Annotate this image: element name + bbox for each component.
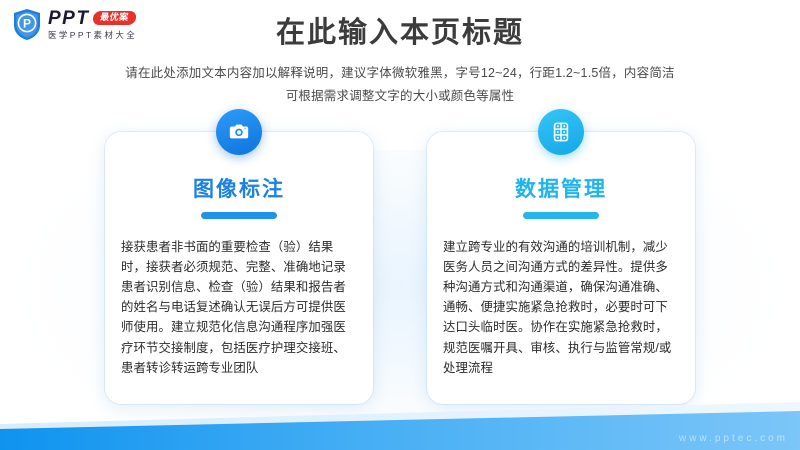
card-body-text: 建立跨专业的有效沟通的培训机制，减少医务人员之间沟通方式的差异性。提供多种沟通方… [443, 237, 679, 378]
page-subtitle-line-2: 可根据需求调整文字的大小或颜色等属性 [70, 85, 730, 108]
page-subtitle: 请在此处添加文本内容加以解释说明，建议字体微软雅黑，字号12~24，行距1.2~… [70, 62, 730, 108]
card-heading: 数据管理 [515, 178, 607, 201]
card-divider [523, 212, 599, 219]
database-icon [538, 109, 584, 155]
watermark: www.pptec.com [679, 434, 788, 444]
card-image-annotation[interactable]: 图像标注 接获患者非书面的重要检查（验）结果时，接获者必须规范、完整、准确地记录… [105, 132, 373, 404]
page-title: 在此输入本页标题 [0, 16, 800, 51]
card-divider [201, 212, 277, 219]
slide-root: P PPT 最优案 医学PPT素材大全 在此输入本页标题 请在此处添加文本内容加… [0, 0, 800, 450]
card-row: 图像标注 接获患者非书面的重要检查（验）结果时，接获者必须规范、完整、准确地记录… [0, 132, 800, 404]
page-subtitle-line-1: 请在此处添加文本内容加以解释说明，建议字体微软雅黑，字号12~24，行距1.2~… [70, 62, 730, 85]
card-body-text: 接获患者非书面的重要检查（验）结果时，接获者必须规范、完整、准确地记录患者识别信… [121, 237, 357, 378]
card-data-management[interactable]: 数据管理 建立跨专业的有效沟通的培训机制，减少医务人员之间沟通方式的差异性。提供… [427, 132, 695, 404]
card-body: 接获患者非书面的重要检查（验）结果时，接获者必须规范、完整、准确地记录患者识别信… [121, 237, 357, 378]
camera-icon [216, 109, 262, 155]
card-body: 建立跨专业的有效沟通的培训机制，减少医务人员之间沟通方式的差异性。提供多种沟通方… [443, 237, 679, 378]
card-heading: 图像标注 [193, 178, 285, 201]
